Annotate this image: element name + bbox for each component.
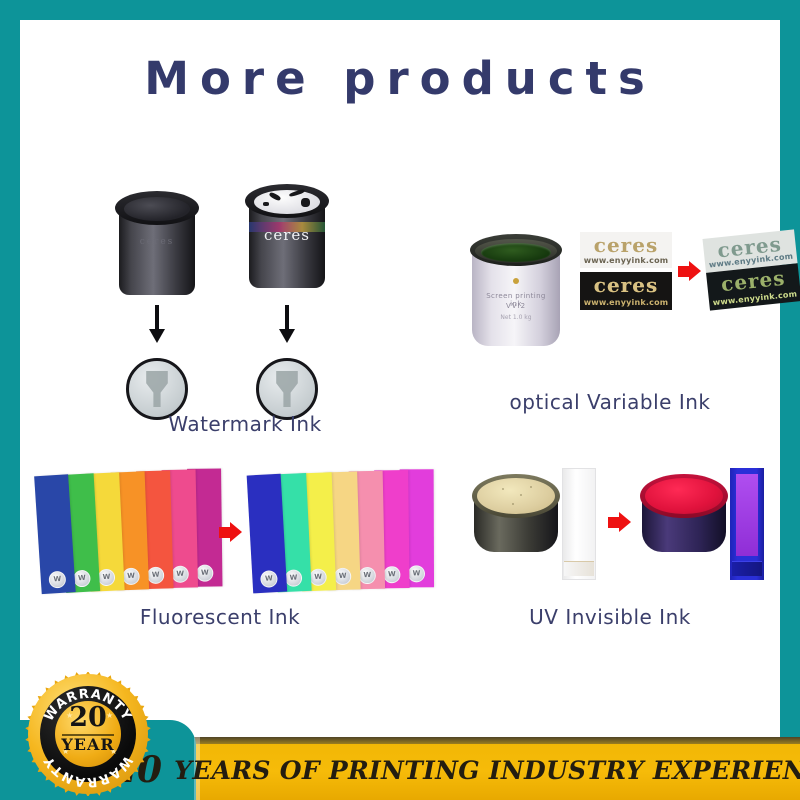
can-brand-label: ceres [251, 226, 323, 244]
can-label-text: ceres [123, 237, 191, 247]
card-glow-area [736, 474, 758, 556]
ink-tin-uv [640, 472, 728, 564]
bucket-line-3: Net 1.0 kg [480, 314, 552, 321]
card-footer [732, 561, 762, 576]
strip-sticker: W [196, 565, 213, 582]
strip-fan-daylight: WWWWWWW [35, 468, 220, 601]
bucket-ink-surface [481, 243, 551, 262]
caption-optical-variable-ink: optical Variable Ink [440, 390, 780, 414]
color-strip: W [247, 474, 288, 594]
watermark-swatch [256, 358, 318, 420]
strip-sticker: W [48, 571, 66, 589]
product-uv-invisible-ink [450, 450, 780, 610]
product-watermark-ink: ceres ceres [90, 170, 400, 440]
test-card-daylight [562, 468, 596, 580]
test-card-uv [730, 468, 764, 580]
transform-arrow-right-icon [219, 522, 244, 542]
tin-ink-surface [645, 478, 723, 514]
warranty-badge: WARRANTY WARRANTY ★ ★ ★ ★ 20 YEAR [22, 672, 154, 800]
sample-card: ceres www.enyyink.com [706, 263, 800, 310]
watermark-pattern [272, 371, 302, 407]
card-footer [564, 561, 594, 576]
experience-years-label: YEARS OF PRINTING INDUSTRY EXPERIENCE [174, 756, 800, 785]
promo-banner: More products ceres ceres [0, 0, 800, 800]
ink-splash [301, 198, 310, 207]
strip-sticker: W [359, 567, 376, 584]
strip-sticker: W [408, 565, 425, 582]
card-brand: ceres [580, 235, 672, 255]
card-brand: ceres [580, 275, 672, 295]
strip-fan-uv: WWWWWWW [248, 469, 432, 600]
sample-card-group-shifted: ceres www.enyyink.com ceres www.enyyink.… [702, 229, 800, 310]
strip-sticker: W [172, 566, 189, 583]
badge-number: 20 [55, 704, 121, 731]
transform-arrow-right-icon [608, 512, 633, 532]
transform-arrow-right-icon [678, 261, 703, 281]
strip-sticker: W [334, 568, 351, 585]
page-title: More products [20, 52, 780, 105]
ink-can: ceres [115, 185, 199, 297]
watermark-pattern [142, 371, 172, 407]
ink-tin-daylight [472, 472, 560, 564]
strip-sticker: W [122, 568, 140, 586]
sample-card: ceres www.enyyink.com [580, 272, 672, 310]
experience-banner-text: 20 YEARS OF PRINTING INDUSTRY EXPERIENCE [112, 747, 800, 793]
strip-sticker: W [147, 567, 164, 584]
bucket-seal [513, 278, 519, 284]
content-canvas: More products ceres ceres [20, 20, 780, 780]
caption-watermark-ink: Watermark Ink [75, 412, 415, 436]
strip-sticker: W [309, 568, 327, 586]
watermark-swatch [126, 358, 188, 420]
badge-unit: YEAR [55, 737, 121, 753]
sample-card: ceres www.enyyink.com [580, 232, 672, 268]
strip-sticker: W [260, 570, 278, 588]
product-fluorescent-ink: WWWWWWW WWWWWWW [20, 450, 430, 610]
card-url: www.enyyink.com [580, 256, 672, 265]
can-ink-surface [124, 197, 190, 221]
strip-sticker: W [383, 566, 400, 583]
caption-uv-invisible-ink: UV Invisible Ink [440, 605, 780, 629]
tin-ink-surface [477, 478, 555, 514]
product-optical-variable-ink: Screen printing ink VVI2 Net 1.0 kg cere… [450, 210, 780, 390]
strip-sticker: W [73, 570, 91, 588]
caption-fluorescent-ink: Fluorescent Ink [50, 605, 390, 629]
ink-splash [263, 202, 269, 206]
ink-bucket: Screen printing ink VVI2 Net 1.0 kg [470, 230, 562, 348]
bucket-line-2: VVI2 [480, 302, 552, 310]
ink-can: ceres [245, 178, 329, 290]
card-url: www.enyyink.com [580, 298, 672, 307]
strip-sticker: W [98, 569, 116, 587]
strip-sticker: W [285, 569, 303, 587]
